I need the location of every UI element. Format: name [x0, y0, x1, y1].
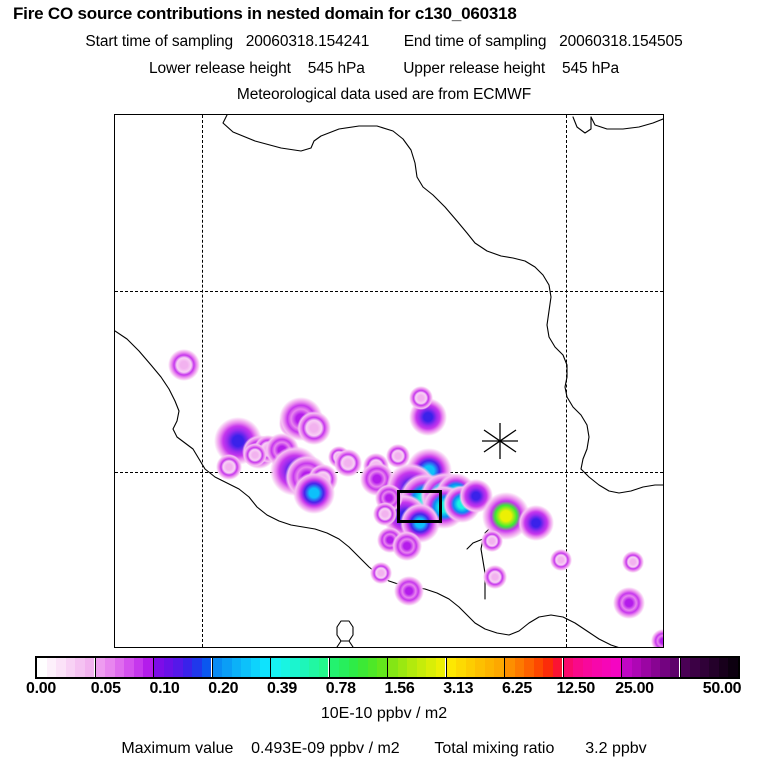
colorbar-step [494, 658, 504, 677]
colorbar-step [602, 658, 612, 677]
colorbar-segment-7 [447, 658, 506, 677]
plume-cell [478, 560, 512, 594]
colorbar-segment-11 [681, 658, 739, 677]
plume-cell [606, 580, 651, 625]
colorbar-step [622, 658, 632, 677]
colorbar-step [124, 658, 134, 677]
colorbar-step [534, 658, 544, 677]
colorbar-step [339, 658, 349, 677]
plume-cell [617, 546, 648, 577]
colorbar-step [543, 658, 553, 677]
colorbar-tick-9: 12.50 [556, 680, 595, 698]
colorbar-tick-11: 50.00 [703, 680, 742, 698]
colorbar-segment-9 [564, 658, 623, 677]
upper-release-label: Upper release height [403, 60, 545, 77]
colorbar-step [719, 658, 729, 677]
release-height-line: Lower release height 545 hPa Upper relea… [0, 60, 768, 78]
colorbar-step [456, 658, 466, 677]
end-time-value: 20060318.154505 [559, 33, 683, 50]
colorbar-step [651, 658, 661, 677]
colorbar-tick-3: 0.20 [208, 680, 238, 698]
colorbar-step [728, 658, 738, 677]
colorbar-unit-label: 10E-10 ppbv / m2 [0, 705, 768, 723]
colorbar-tick-1: 0.05 [91, 680, 121, 698]
colorbar-step [232, 658, 242, 677]
end-time-label: End time of sampling [404, 33, 547, 50]
colorbar-step [56, 658, 66, 677]
colorbar-segment-3 [213, 658, 272, 677]
colorbar-step [271, 658, 281, 677]
sampling-time-line: Start time of sampling 20060318.154241 E… [0, 33, 768, 51]
colorbar-tick-7: 3.13 [443, 680, 473, 698]
colorbar-tick-labels: 0.000.050.100.200.390.781.563.136.2512.5… [0, 680, 768, 700]
colorbar-step [426, 658, 436, 677]
colorbar-step [290, 658, 300, 677]
colorbar-step [143, 658, 153, 677]
colorbar-step [524, 658, 534, 677]
start-time-value: 20060318.154241 [246, 33, 370, 50]
colorbar-step [660, 658, 670, 677]
colorbar-step [515, 658, 525, 677]
colorbar-step [670, 658, 680, 677]
colorbar-step [700, 658, 710, 677]
colorbar-segment-1 [96, 658, 155, 677]
colorbar-step [466, 658, 476, 677]
colorbar-step [553, 658, 563, 677]
colorbar-step [75, 658, 85, 677]
colorbar-step [47, 658, 57, 677]
colorbar-step [690, 658, 700, 677]
colorbar-segment-5 [330, 658, 389, 677]
aircraft-location-asterisk-icon [480, 421, 520, 461]
colorbar-step [251, 658, 261, 677]
plume-cell [365, 557, 396, 588]
map-plot-panel [114, 114, 664, 648]
colorbar-step [154, 658, 164, 677]
colorbar-segment-10 [622, 658, 681, 677]
colorbar-step [281, 658, 291, 677]
colorbar-step [319, 658, 329, 677]
colorbar-step [173, 658, 183, 677]
colorbar-step [241, 658, 251, 677]
colorbar-step [485, 658, 495, 677]
footer-summary: Maximum value 0.493E-09 ppbv / m2 Total … [0, 740, 768, 758]
colorbar-step [475, 658, 485, 677]
lower-release-label: Lower release height [149, 60, 291, 77]
lower-release-value: 545 hPa [308, 60, 365, 77]
colorbar-tick-2: 0.10 [150, 680, 180, 698]
colorbar-step [213, 658, 223, 677]
colorbar-step [407, 658, 417, 677]
colorbar-step [681, 658, 691, 677]
colorbar-segment-4 [271, 658, 330, 677]
plume-cell [388, 570, 430, 612]
colorbar-step [134, 658, 144, 677]
colorbar-step [202, 658, 212, 677]
total-mixing-ratio-label: Total mixing ratio [434, 740, 554, 757]
plume-cell [646, 624, 664, 648]
colorbar-step [709, 658, 719, 677]
total-mixing-ratio-value: 3.2 ppbv [585, 740, 646, 757]
colorbar-step [368, 658, 378, 677]
colorbar [35, 656, 740, 679]
colorbar-step [358, 658, 368, 677]
colorbar-tick-0: 0.00 [26, 680, 56, 698]
colorbar-step [632, 658, 642, 677]
colorbar-step [330, 658, 340, 677]
colorbar-step [583, 658, 593, 677]
colorbar-step [192, 658, 202, 677]
colorbar-step [398, 658, 408, 677]
upper-release-value: 545 hPa [562, 60, 619, 77]
colorbar-step [388, 658, 398, 677]
colorbar-step [447, 658, 457, 677]
colorbar-step [564, 658, 574, 677]
colorbar-tick-4: 0.39 [267, 680, 297, 698]
colorbar-segment-8 [505, 658, 564, 677]
colorbar-step [183, 658, 193, 677]
colorbar-step [66, 658, 76, 677]
colorbar-step [641, 658, 651, 677]
plume-cell [161, 342, 206, 387]
colorbar-tick-8: 6.25 [502, 680, 532, 698]
colorbar-step [37, 658, 47, 677]
maximum-value: 0.493E-09 ppbv / m2 [251, 740, 400, 757]
page-title: Fire CO source contributions in nested d… [13, 4, 755, 24]
colorbar-step [105, 658, 115, 677]
release-box-marker [397, 490, 442, 523]
colorbar-tick-10: 25.00 [615, 680, 654, 698]
colorbar-step [417, 658, 427, 677]
colorbar-step [115, 658, 125, 677]
colorbar-step [309, 658, 319, 677]
colorbar-segment-2 [154, 658, 213, 677]
maximum-value-label: Maximum value [121, 740, 233, 757]
colorbar-step [96, 658, 106, 677]
colorbar-step [349, 658, 359, 677]
figure-canvas: Fire CO source contributions in nested d… [0, 0, 768, 768]
met-data-line: Meteorological data used are from ECMWF [0, 86, 768, 104]
plume-layer [115, 115, 663, 647]
colorbar-step [260, 658, 270, 677]
colorbar-step [164, 658, 174, 677]
colorbar-segment-0 [37, 658, 96, 677]
colorbar-step [505, 658, 515, 677]
colorbar-step [573, 658, 583, 677]
colorbar-tick-6: 1.56 [385, 680, 415, 698]
colorbar-tick-5: 0.78 [326, 680, 356, 698]
colorbar-step [222, 658, 232, 677]
colorbar-step [611, 658, 621, 677]
colorbar-step [436, 658, 446, 677]
colorbar-segment-6 [388, 658, 447, 677]
colorbar-step [377, 658, 387, 677]
colorbar-step [592, 658, 602, 677]
colorbar-step [300, 658, 310, 677]
plume-cell [545, 544, 576, 575]
start-time-label: Start time of sampling [85, 33, 233, 50]
colorbar-step [85, 658, 95, 677]
